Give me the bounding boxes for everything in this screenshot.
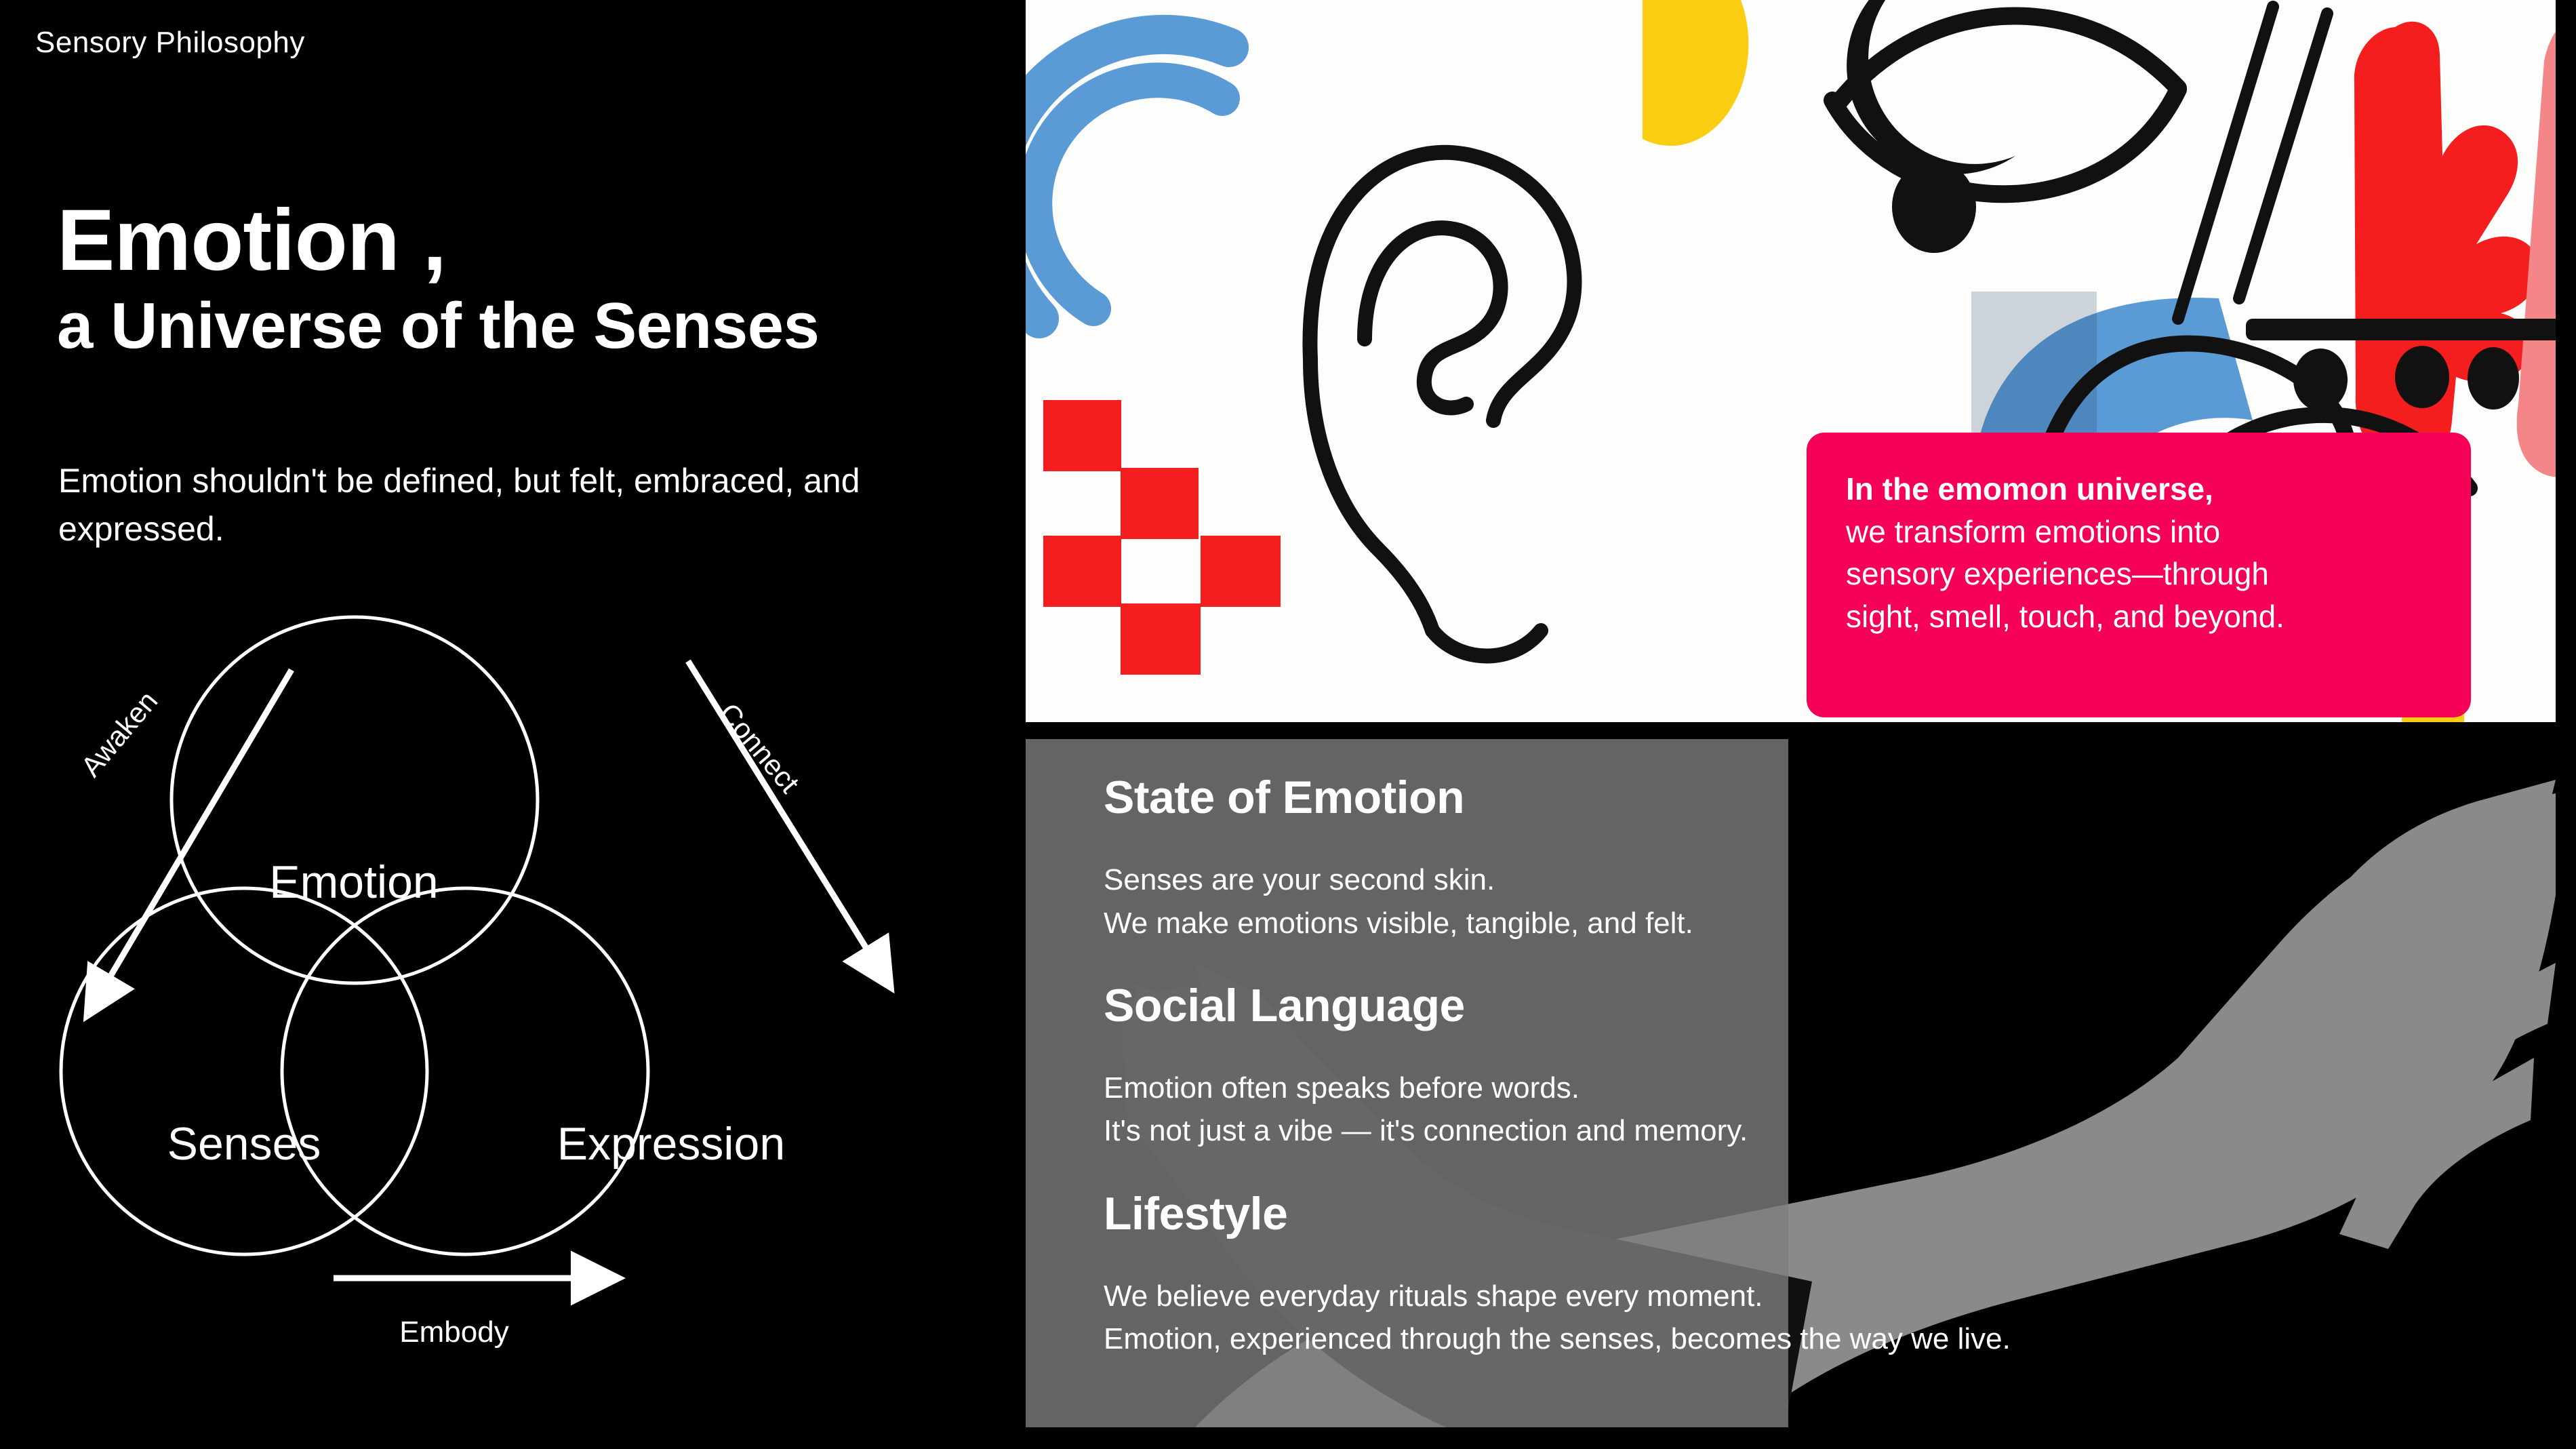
section-heading-social-language: Social Language <box>1104 980 2576 1031</box>
venn-circle-senses <box>61 888 427 1254</box>
section-line-2-a: Emotion often speaks before words. <box>1104 1067 2576 1109</box>
title-line-1: Emotion , <box>57 197 1006 285</box>
section-heading-state-of-emotion: State of Emotion <box>1104 772 2576 823</box>
section-line-1-a: Senses are your second skin. <box>1104 858 2576 901</box>
panel-text-content: State of Emotion Senses are your second … <box>1026 739 2576 1427</box>
venn-arrow-connect <box>688 661 888 983</box>
dot-row-shape <box>2293 346 2519 411</box>
section-line-1-b: We make emotions visible, tangible, and … <box>1104 902 2576 945</box>
page-title: Emotion , a Universe of the Senses <box>57 197 1006 362</box>
venn-circle-emotion <box>172 617 538 983</box>
callout-line-1: In the emomon universe, <box>1846 468 2432 511</box>
venn-circle-expression <box>282 888 648 1254</box>
callout-line-4: sight, smell, touch, and beyond. <box>1846 595 2432 638</box>
dot-shape <box>1892 161 1976 253</box>
right-column: In the emomon universe, we transform emo… <box>1026 0 2576 1449</box>
venn-svg <box>41 597 990 1376</box>
callout-line-3: sensory experiences—through <box>1846 553 2432 595</box>
section-heading-lifestyle: Lifestyle <box>1104 1188 2576 1239</box>
title-line-2: a Universe of the Senses <box>57 290 1006 363</box>
section-line-3-b: Emotion, experienced through the senses,… <box>1104 1317 2576 1360</box>
eyebrow-label: Sensory Philosophy <box>35 26 305 60</box>
callout-line-2: we transform emotions into <box>1846 511 2432 553</box>
section-line-3-a: We believe everyday rituals shape every … <box>1104 1275 2576 1317</box>
section-line-2-b: It's not just a vibe — it's connection a… <box>1104 1109 2576 1152</box>
venn-diagram: Emotion Senses Expression Awaken Connect… <box>41 597 990 1376</box>
lede-paragraph: Emotion shouldn't be defined, but felt, … <box>58 457 1007 553</box>
left-column: Sensory Philosophy Emotion , a Universe … <box>0 0 1026 1449</box>
pink-callout-box: In the emomon universe, we transform emo… <box>1807 433 2471 717</box>
slide-root: Sensory Philosophy Emotion , a Universe … <box>0 0 2576 1449</box>
